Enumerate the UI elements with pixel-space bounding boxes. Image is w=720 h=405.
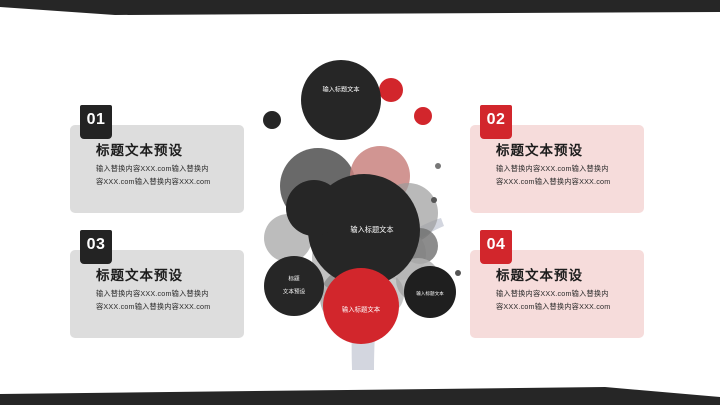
card-desc-line-2: 容XXX.com输入替换内容XXX.com <box>96 176 246 189</box>
bubble-left-label-line1: 标题 <box>288 274 300 282</box>
bubble-red-bottom[interactable]: 输入标题文本 <box>323 268 399 344</box>
slide-canvas: 01 标题文本预设 输入替换内容XXX.com输入替换内 容XXX.com输入替… <box>0 0 720 405</box>
bubble-red-label: 输入标题文本 <box>342 305 381 314</box>
bubble-left-label-line2: 文本预设 <box>283 287 306 295</box>
bottom-decorative-band <box>0 381 720 405</box>
card-desc-line-1: 输入替换内容XXX.com输入替换内 <box>496 288 646 301</box>
bubble-right[interactable]: 输入标题文本 <box>404 266 456 318</box>
card-title-03: 标题文本预设 <box>96 264 183 284</box>
bubble-top[interactable]: 输入标题文本 <box>301 60 381 140</box>
card-description-01: 输入替换内容XXX.com输入替换内 容XXX.com输入替换内容XXX.com <box>96 163 246 188</box>
card-title-02: 标题文本预设 <box>496 139 583 159</box>
bubble-left-shape[interactable] <box>264 256 324 316</box>
card-desc-line-2: 容XXX.com输入替换内容XXX.com <box>96 301 246 314</box>
bubble-center-label: 输入标题文本 <box>350 225 393 234</box>
bubble-top-label: 输入标题文本 <box>322 86 359 94</box>
card-desc-line-1: 输入替换内容XXX.com输入替换内 <box>496 163 646 176</box>
card-description-02: 输入替换内容XXX.com输入替换内 容XXX.com输入替换内容XXX.com <box>496 163 646 188</box>
card-title-04: 标题文本预设 <box>496 264 583 284</box>
card-number-badge-02: 02 <box>480 105 512 139</box>
card-desc-line-1: 输入替换内容XXX.com输入替换内 <box>96 163 246 176</box>
card-number-badge-04: 04 <box>480 230 512 264</box>
card-title-01: 标题文本预设 <box>96 139 183 159</box>
card-number-badge-01: 01 <box>80 105 112 139</box>
card-description-04: 输入替换内容XXX.com输入替换内 容XXX.com输入替换内容XXX.com <box>496 288 646 313</box>
bubble-top-shape[interactable] <box>301 60 381 140</box>
card-number-badge-03: 03 <box>80 230 112 264</box>
card-description-03: 输入替换内容XXX.com输入替换内 容XXX.com输入替换内容XXX.com <box>96 288 246 313</box>
card-desc-line-1: 输入替换内容XXX.com输入替换内 <box>96 288 246 301</box>
bubble-tree-graphic: 输入标题文本 输入标题文本 标题 文本预设 输入标题文本 <box>248 58 478 370</box>
bubble-right-label: 输入标题文本 <box>416 290 444 297</box>
card-desc-line-2: 容XXX.com输入替换内容XXX.com <box>496 301 646 314</box>
card-desc-line-2: 容XXX.com输入替换内容XXX.com <box>496 176 646 189</box>
bubble-left[interactable]: 标题 文本预设 <box>264 256 324 316</box>
top-decorative-band <box>0 0 720 22</box>
